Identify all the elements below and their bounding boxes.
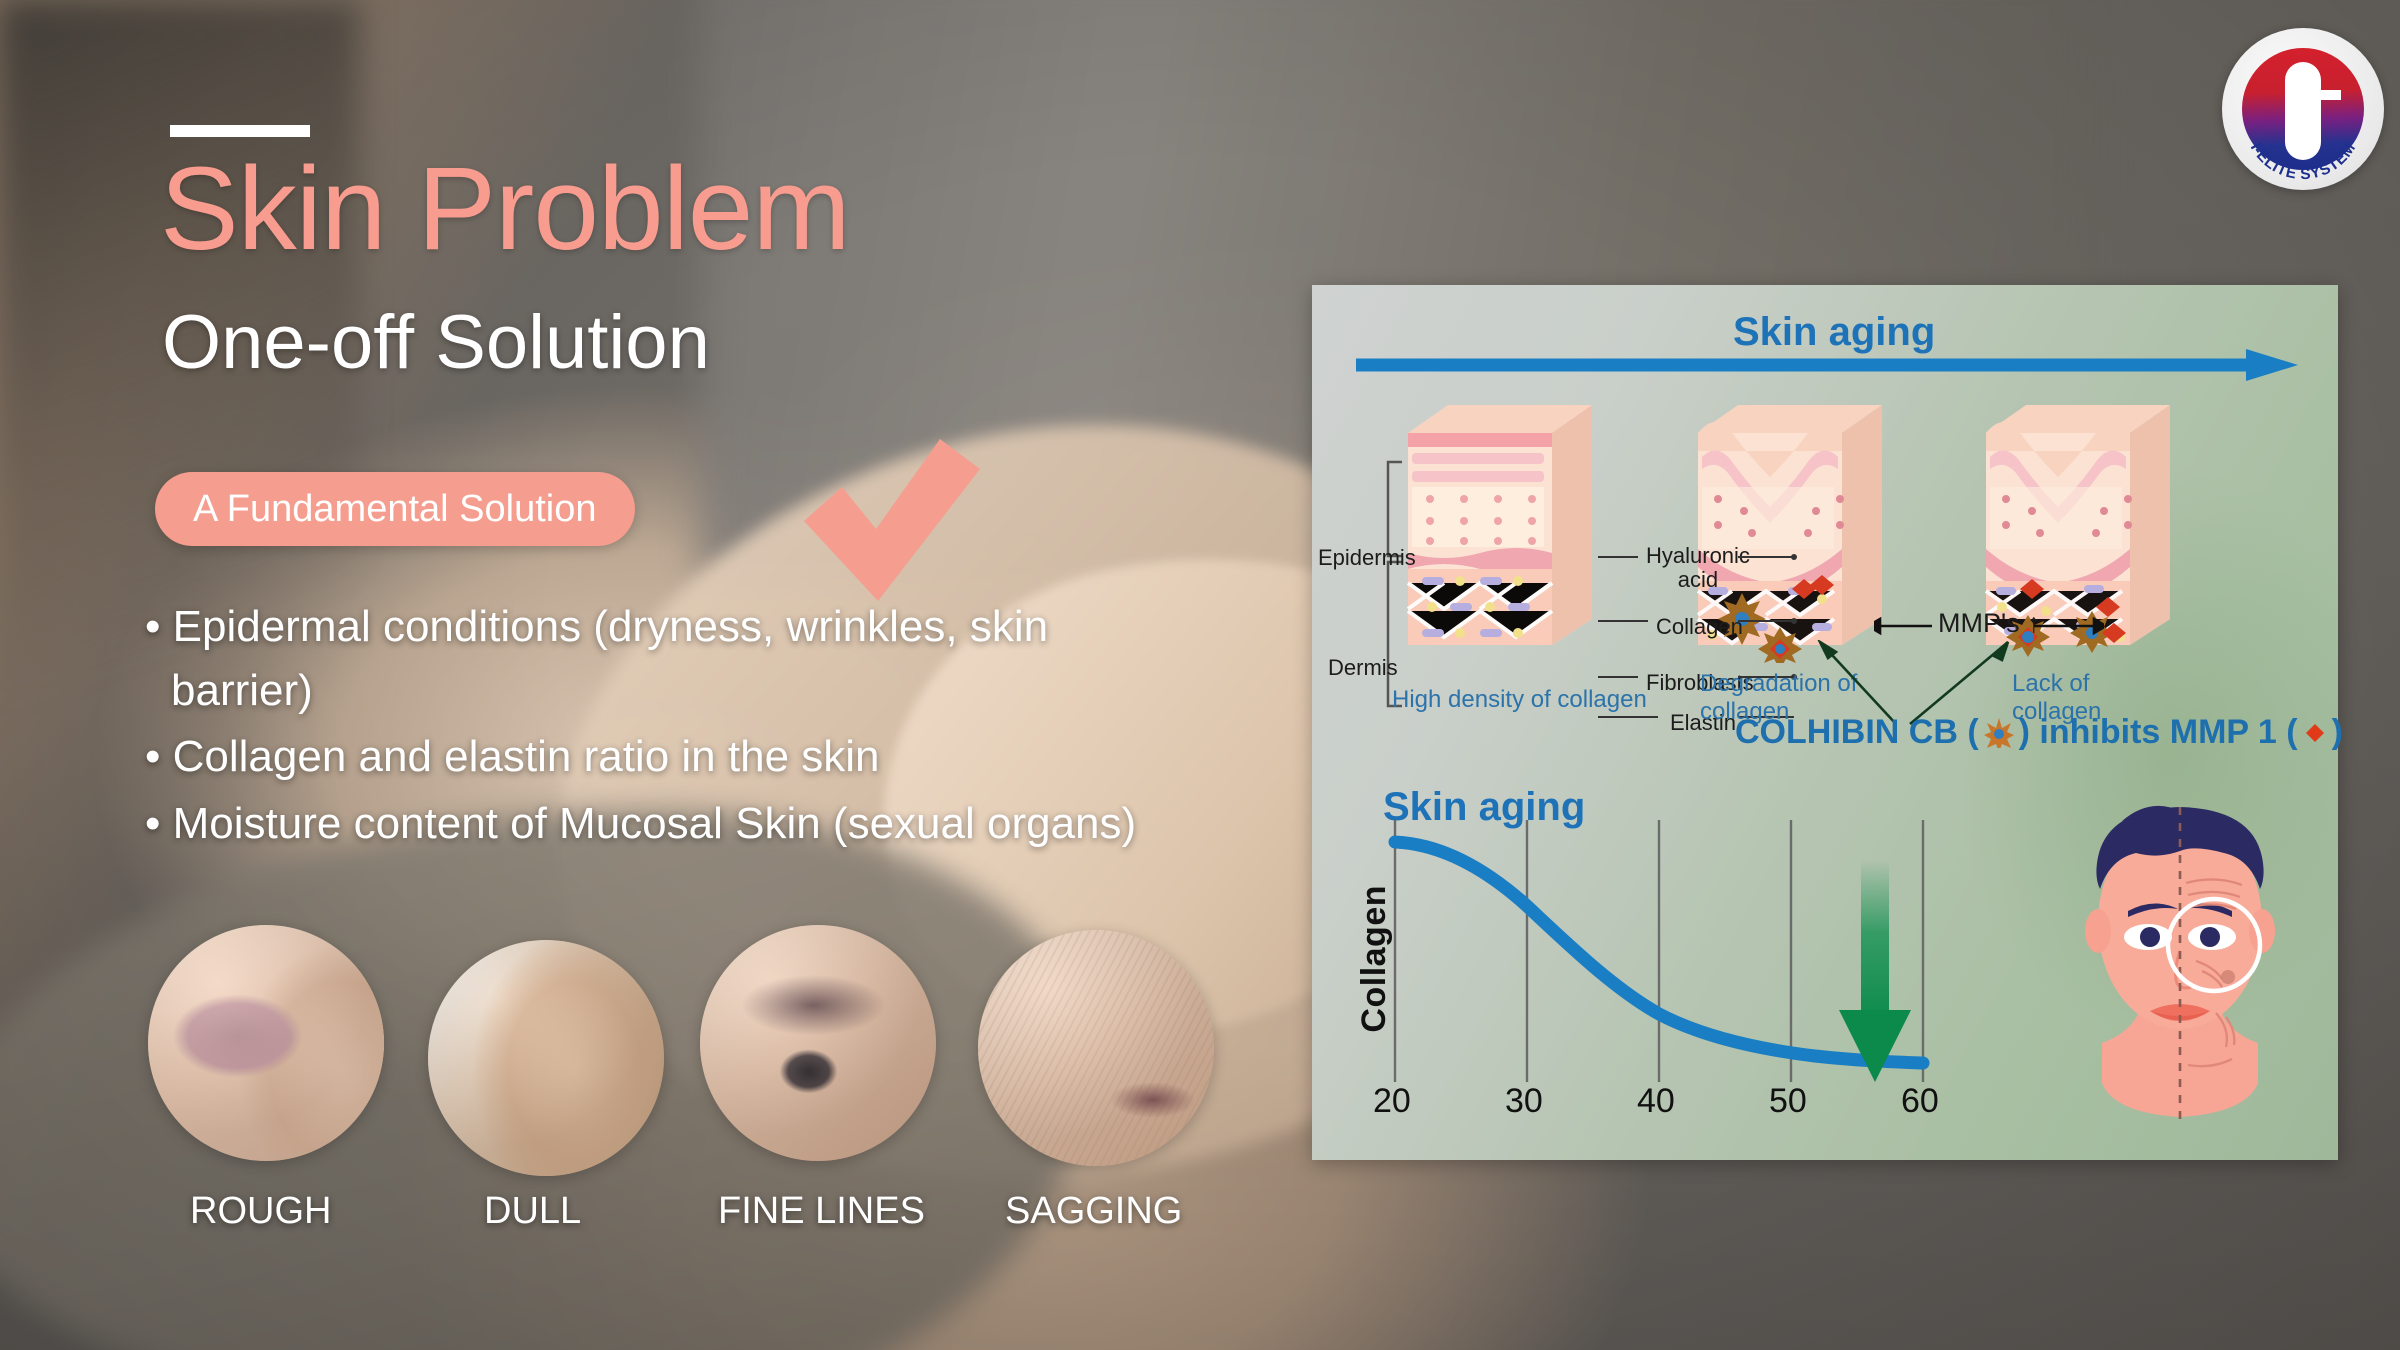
label-epidermis: Epidermis	[1318, 545, 1416, 571]
check-mark-icon	[790, 425, 990, 615]
chart-xtick: 50	[1769, 1082, 1807, 1121]
condition-captions: ROUGH DULL FINE LINES SAGGING	[0, 1190, 1250, 1240]
skin-block-young-icon	[1402, 387, 1598, 663]
svg-text:I-ELITE SYSTEM: I-ELITE SYSTEM	[2247, 140, 2360, 184]
status-badge: A Fundamental Solution	[155, 472, 635, 546]
page-title: Skin Problem	[160, 150, 850, 268]
caption-high-density: High density of collagen	[1392, 686, 1647, 714]
condition-image-fine-lines	[700, 925, 936, 1161]
slide-root: I-ELITE SYSTEM Skin Problem One-off Solu…	[0, 0, 2400, 1350]
list-item: • Collagen and elastin ratio in the skin	[145, 725, 1155, 789]
chart-xtick: 60	[1901, 1082, 1939, 1121]
colhibin-star-icon	[1984, 718, 2014, 748]
skin-aging-arrow-icon	[1352, 345, 2302, 385]
condition-image-sagging	[978, 930, 1214, 1166]
condition-caption: ROUGH	[190, 1190, 331, 1233]
chart-xtick: 30	[1505, 1082, 1543, 1121]
condition-caption: DULL	[484, 1190, 581, 1233]
logo-brand-text: I-ELITE SYSTEM	[2222, 28, 2384, 190]
split-face-illustration	[2030, 765, 2330, 1157]
title-rule	[170, 125, 310, 137]
chart-xtick: 40	[1637, 1082, 1675, 1121]
list-item: • Epidermal conditions (dryness, wrinkle…	[145, 595, 1155, 723]
colhibin-text-end: )	[2332, 713, 2343, 752]
condition-caption: FINE LINES	[718, 1190, 925, 1233]
colhibin-text-start: COLHIBIN CB (	[1735, 713, 1979, 752]
colhibin-statement: COLHIBIN CB ( ) inhibits MMP 1 ( )	[1735, 713, 2343, 752]
mmp-diamond-icon	[2303, 721, 2327, 745]
status-badge-label: A Fundamental Solution	[193, 488, 597, 531]
list-item: • Moisture content of Mucosal Skin (sexu…	[145, 792, 1155, 856]
chart-xtick: 20	[1373, 1082, 1411, 1121]
condition-image-rough	[148, 925, 384, 1161]
condition-image-dull	[428, 940, 664, 1176]
page-subtitle: One-off Solution	[162, 305, 710, 381]
decline-arrow-icon	[1835, 860, 1915, 1100]
condition-caption: SAGGING	[1005, 1190, 1182, 1233]
bullet-list: • Epidermal conditions (dryness, wrinkle…	[145, 595, 1155, 858]
colhibin-text-mid: ) inhibits MMP 1 (	[2019, 713, 2298, 752]
brand-logo: I-ELITE SYSTEM	[2222, 28, 2384, 190]
label-dermis: Dermis	[1328, 655, 1398, 681]
